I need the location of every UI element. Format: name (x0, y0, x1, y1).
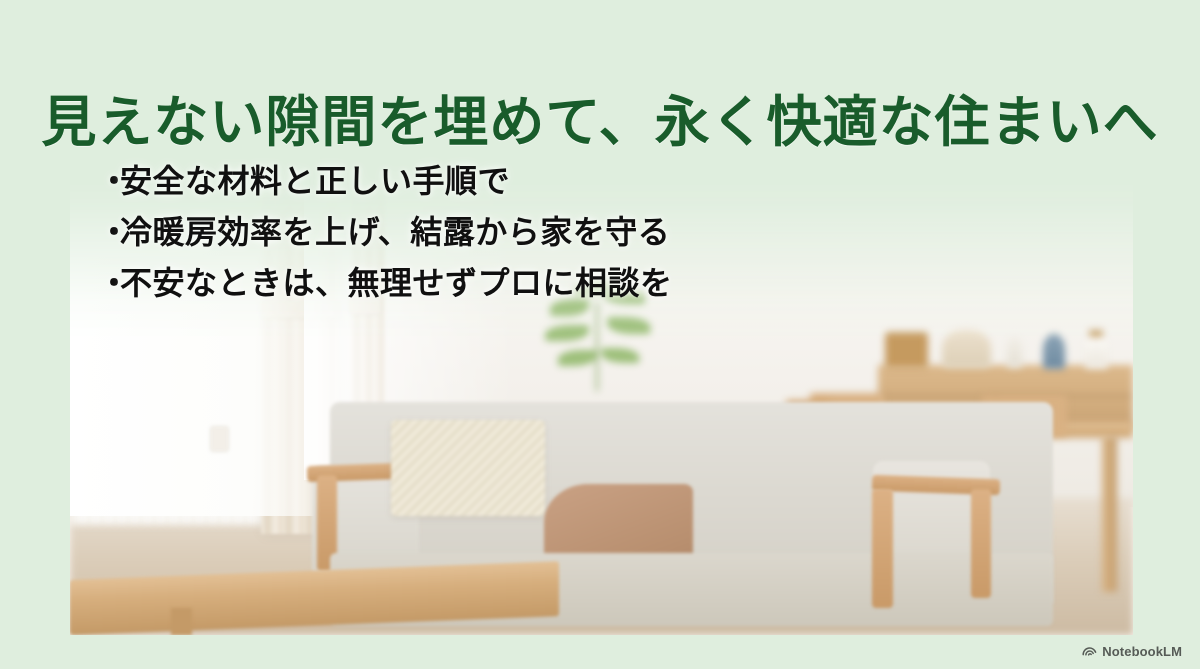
page-title: 見えない隙間を埋めて、永く快適な住まいへ (0, 94, 1200, 152)
knit-cushion (391, 420, 545, 516)
list-item-label: 安全な材料と正しい手順で (120, 160, 510, 202)
woven-basket (885, 332, 928, 369)
coffee-table-leg (171, 608, 192, 635)
wall-outlet (211, 427, 228, 451)
stone-decor-object (942, 330, 991, 368)
white-bottle-vase (1085, 335, 1107, 369)
list-item-label: 冷暖房効率を上げ、結露から家を守る (120, 211, 670, 253)
slide-canvas: 見えない隙間を埋めて、永く快適な住まいへ ・ 安全な材料と正しい手順で ・ 冷暖… (0, 0, 1200, 669)
dining-table-leg-right (1102, 436, 1117, 591)
list-item: ・ 冷暖房効率を上げ、結露から家を守る (98, 211, 673, 253)
blue-bottle-vase (1043, 334, 1065, 369)
bullet-marker-icon: ・ (98, 211, 120, 253)
thin-vase (1007, 336, 1023, 368)
notebooklm-arc-icon (1082, 643, 1097, 659)
list-item-label: 不安なときは、無理せずプロに相談を (120, 262, 673, 304)
sofa-wood-leg-right-outer (971, 489, 990, 599)
notebooklm-watermark: NotebookLM (1082, 643, 1182, 659)
bullet-marker-icon: ・ (98, 160, 120, 202)
bullet-marker-icon: ・ (98, 262, 120, 304)
watermark-label: NotebookLM (1102, 644, 1182, 659)
list-item: ・ 不安なときは、無理せずプロに相談を (98, 262, 673, 304)
bullet-list: ・ 安全な材料と正しい手順で ・ 冷暖房効率を上げ、結露から家を守る ・ 不安な… (98, 160, 673, 305)
sofa-wood-leg-right-inner (872, 489, 893, 608)
list-item: ・ 安全な材料と正しい手順で (98, 160, 673, 202)
